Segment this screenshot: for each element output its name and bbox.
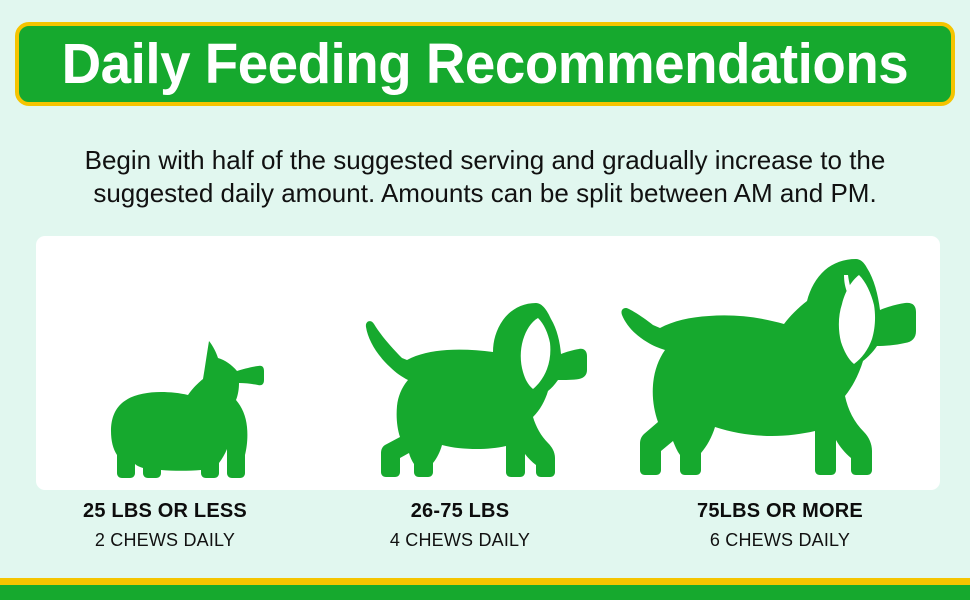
large-dog-slot: [606, 254, 940, 482]
feeding-labels-row: 25 LBS OR LESS 2 CHEWS DAILY 26-75 LBS 4…: [20, 500, 950, 570]
small-dog-icon: [106, 337, 266, 482]
medium-dog-slot: [316, 300, 626, 482]
label-group-large: 75LBS OR MORE 6 CHEWS DAILY: [610, 500, 950, 551]
intro-paragraph: Begin with half of the suggested serving…: [45, 144, 925, 210]
header-banner: Daily Feeding Recommendations: [15, 22, 955, 106]
weight-label-large: 75LBS OR MORE: [610, 500, 950, 523]
small-dog-slot: [36, 337, 336, 482]
medium-dog-icon: [352, 300, 590, 482]
dose-label-large: 6 CHEWS DAILY: [610, 530, 950, 551]
dose-label-medium: 4 CHEWS DAILY: [310, 530, 610, 551]
dog-illustration-row: [36, 236, 940, 490]
large-dog-icon: [620, 254, 926, 482]
label-group-small: 25 LBS OR LESS 2 CHEWS DAILY: [20, 500, 310, 551]
dog-sizes-card: [36, 236, 940, 490]
page-title: Daily Feeding Recommendations: [62, 36, 909, 93]
dose-label-small: 2 CHEWS DAILY: [20, 530, 310, 551]
label-group-medium: 26-75 LBS 4 CHEWS DAILY: [310, 500, 610, 551]
feeding-recommendations-infographic: Daily Feeding Recommendations Begin with…: [0, 0, 970, 600]
footer-stripe-green: [0, 585, 970, 600]
weight-label-medium: 26-75 LBS: [310, 500, 610, 523]
footer-stripe-yellow: [0, 578, 970, 585]
weight-label-small: 25 LBS OR LESS: [20, 500, 310, 523]
